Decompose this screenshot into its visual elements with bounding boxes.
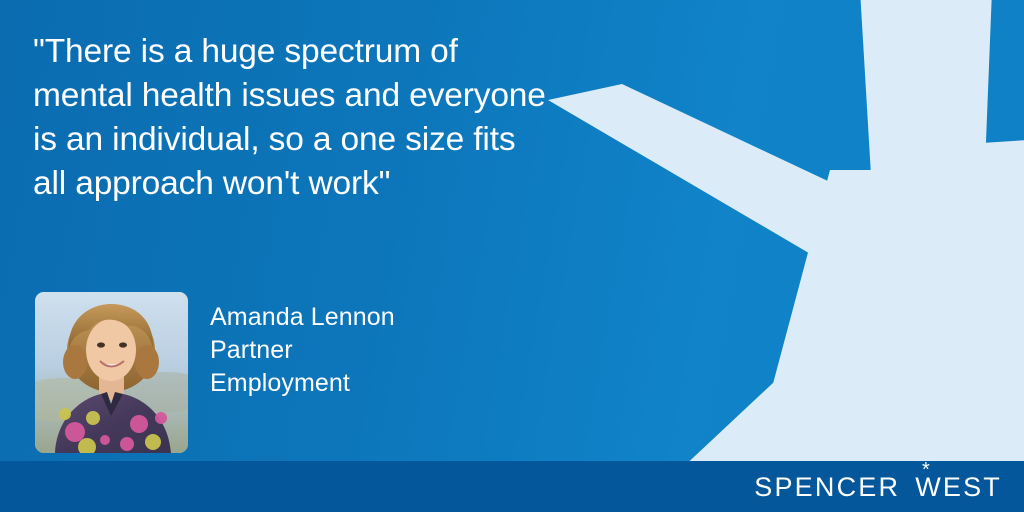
quote-text: "There is a huge spectrum of mental heal…	[33, 30, 553, 206]
footer-bar: SPENCER WEST *	[0, 461, 1024, 512]
spencer-west-logo[interactable]: SPENCER WEST *	[754, 472, 1002, 501]
quote-card: "There is a huge spectrum of mental heal…	[0, 0, 1024, 512]
avatar	[35, 292, 188, 453]
person-name: Amanda Lennon	[210, 301, 395, 334]
asterisk-decoration	[500, 0, 1024, 470]
attribution-block: Amanda Lennon Partner Employment	[35, 292, 395, 453]
person-department: Employment	[210, 367, 395, 400]
logo-word-spencer: SPENCER	[754, 474, 900, 501]
person-details: Amanda Lennon Partner Employment	[210, 292, 395, 400]
asterisk-icon: *	[922, 460, 932, 480]
person-role: Partner	[210, 334, 395, 367]
